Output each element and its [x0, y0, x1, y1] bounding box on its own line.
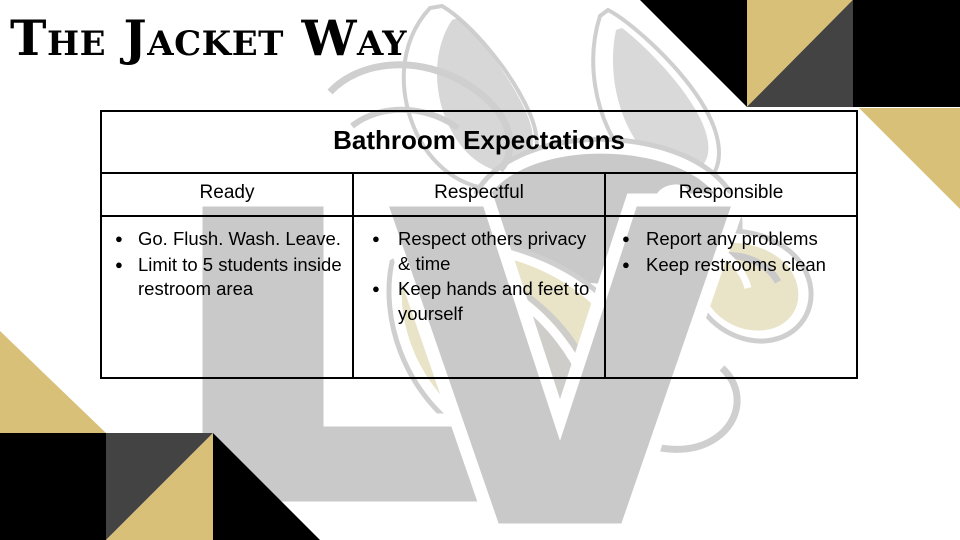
bullet-list-ready: Go. Flush. Wash. Leave. Limit to 5 stude… — [110, 227, 344, 302]
list-item: Keep restrooms clean — [646, 253, 848, 278]
bullet-list-responsible: Report any problems Keep restrooms clean — [614, 227, 848, 277]
list-item: Respect others privacy & time — [398, 227, 596, 276]
slide-canvas: The Jacket Way Bathroom Expectations Rea… — [0, 0, 960, 540]
list-item: Limit to 5 students inside restroom area — [138, 253, 344, 302]
corner-black-top-right — [640, 0, 960, 107]
corner-black-bottom-left — [0, 433, 106, 540]
corner-gold-right-edge — [859, 108, 960, 209]
column-header-respectful: Respectful — [353, 173, 605, 216]
corner-gold-top-right — [747, 0, 853, 107]
table-title-cell: Bathroom Expectations — [101, 111, 857, 173]
cell-ready: Go. Flush. Wash. Leave. Limit to 5 stude… — [101, 216, 353, 378]
corner-gray-top-right — [747, 0, 853, 107]
expectations-table: Bathroom Expectations Ready Respectful R… — [100, 110, 858, 379]
corner-gold-bottom-left-inner — [106, 433, 213, 540]
corner-black-bottom-triangle — [213, 433, 320, 540]
list-item: Report any problems — [646, 227, 848, 252]
cell-responsible: Report any problems Keep restrooms clean — [605, 216, 857, 378]
page-title: The Jacket Way — [10, 8, 407, 68]
table-row-title: Bathroom Expectations — [101, 111, 857, 173]
column-header-ready: Ready — [101, 173, 353, 216]
list-item: Go. Flush. Wash. Leave. — [138, 227, 344, 252]
column-header-responsible: Responsible — [605, 173, 857, 216]
bullet-list-respectful: Respect others privacy & time Keep hands… — [362, 227, 596, 326]
corner-gray-bottom-left — [106, 433, 213, 540]
list-item: Keep hands and feet to yourself — [398, 277, 596, 326]
table-row-headers: Ready Respectful Responsible — [101, 173, 857, 216]
table-row-body: Go. Flush. Wash. Leave. Limit to 5 stude… — [101, 216, 857, 378]
corner-gold-bottom-left-outer — [0, 331, 106, 433]
cell-respectful: Respect others privacy & time Keep hands… — [353, 216, 605, 378]
